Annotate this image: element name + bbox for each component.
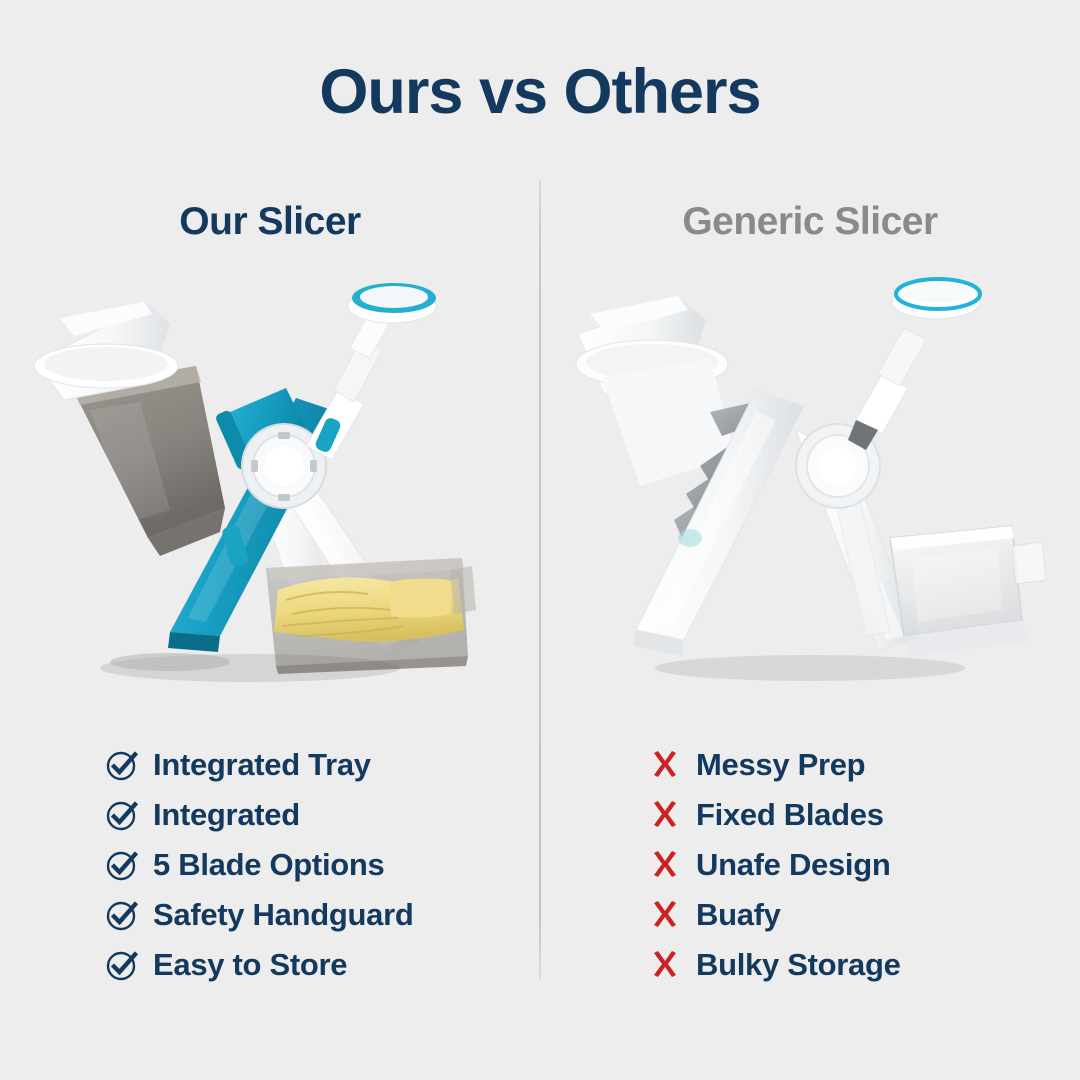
list-item: Integrated Tray	[105, 740, 525, 790]
column-divider	[539, 180, 541, 980]
list-item-label: Easy to Store	[153, 947, 347, 983]
potato-fries	[274, 578, 464, 642]
right-product-image	[560, 270, 1060, 690]
check-circle-icon	[105, 848, 139, 882]
pros-list: Integrated Tray Integrated 5 Blade Optio…	[105, 740, 525, 990]
check-circle-icon	[105, 798, 139, 832]
left-column-header: Our Slicer	[0, 198, 540, 246]
list-item-label: 5 Blade Options	[153, 847, 384, 883]
cross-icon	[648, 798, 682, 832]
list-item-label: Integrated	[153, 797, 300, 833]
list-item-label: Unafe Design	[696, 847, 891, 883]
empty-tray	[890, 526, 1046, 656]
page-title: Ours vs Others	[0, 58, 1080, 126]
list-item: 5 Blade Options	[105, 840, 525, 890]
check-circle-icon	[105, 748, 139, 782]
list-item: Unafe Design	[648, 840, 1068, 890]
list-item: Messy Prep	[648, 740, 1068, 790]
cross-icon	[648, 848, 682, 882]
comparison-infographic: Ours vs Others Our Slicer Generic Slicer	[0, 0, 1080, 1080]
left-product-image	[20, 270, 520, 690]
list-item-label: Bulky Storage	[696, 947, 901, 983]
list-item-label: Safety Handguard	[153, 897, 413, 933]
list-item: Buafy	[648, 890, 1068, 940]
list-item-label: Messy Prep	[696, 747, 865, 783]
check-circle-icon	[105, 898, 139, 932]
fries-tray	[266, 558, 476, 674]
food-pusher	[306, 283, 436, 460]
food-pusher	[848, 279, 980, 450]
list-item-label: Integrated Tray	[153, 747, 371, 783]
check-circle-icon	[105, 948, 139, 982]
list-item: Easy to Store	[105, 940, 525, 990]
cross-icon	[648, 948, 682, 982]
list-item: Fixed Blades	[648, 790, 1068, 840]
cross-icon	[648, 748, 682, 782]
food-hopper	[576, 296, 736, 486]
cons-list: Messy Prep Fixed Blades Unafe Design	[648, 740, 1068, 990]
cross-icon	[648, 898, 682, 932]
list-item: Bulky Storage	[648, 940, 1068, 990]
list-item: Integrated	[105, 790, 525, 840]
list-item-label: Buafy	[696, 897, 781, 933]
list-item-label: Fixed Blades	[696, 797, 884, 833]
right-column-header: Generic Slicer	[540, 198, 1080, 246]
list-item: Safety Handguard	[105, 890, 525, 940]
